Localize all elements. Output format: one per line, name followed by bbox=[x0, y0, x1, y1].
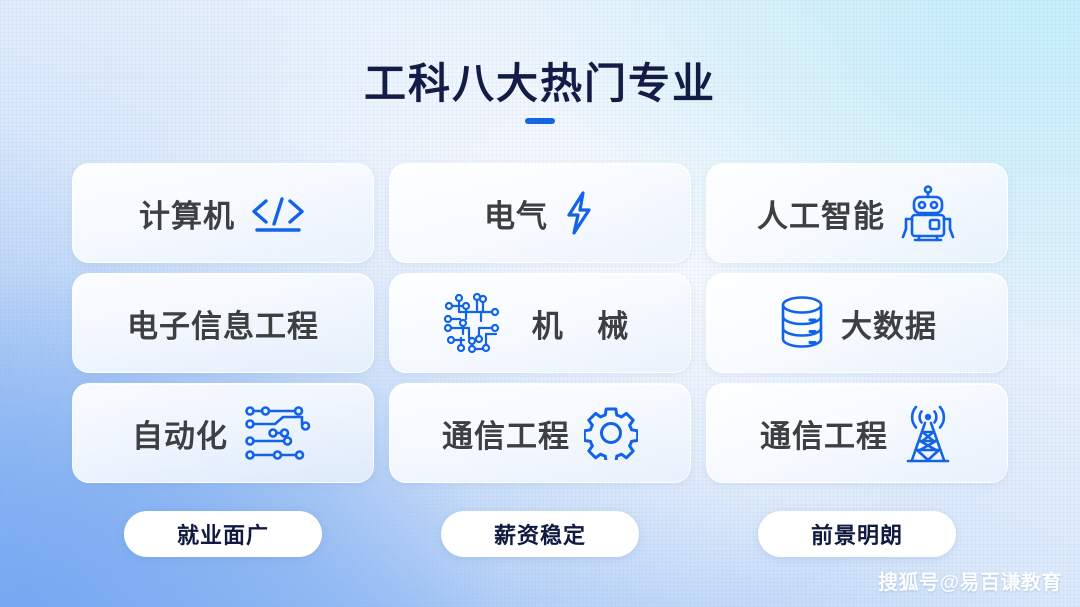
major-card-label: 通信工程 bbox=[760, 411, 888, 456]
major-card-label: 电子信息工程 bbox=[127, 301, 319, 346]
benefit-pill-slot: 就业面广 bbox=[72, 511, 374, 557]
major-card[interactable]: 机 械 bbox=[389, 273, 691, 373]
major-card-label: 通信工程 bbox=[442, 411, 570, 456]
major-card-label: 自动化 bbox=[132, 411, 228, 456]
major-card[interactable]: 自动化 bbox=[72, 383, 374, 483]
poster-canvas: 工科八大热门专业 计算机 电气 人工智能 电子 bbox=[0, 0, 1080, 607]
gear-icon bbox=[584, 406, 638, 460]
lightning-icon bbox=[562, 190, 596, 236]
page-title: 工科八大热门专业 bbox=[0, 62, 1080, 107]
major-card[interactable]: 计算机 bbox=[72, 163, 374, 263]
network-icon bbox=[242, 403, 314, 463]
major-card-label: 人工智能 bbox=[757, 191, 885, 236]
watermark: 搜狐号@易百谦教育 bbox=[878, 566, 1062, 595]
benefit-pill-slot: 薪资稳定 bbox=[389, 511, 691, 557]
major-card[interactable]: 通信工程 bbox=[389, 383, 691, 483]
code-icon bbox=[249, 192, 307, 234]
antenna-icon bbox=[902, 403, 954, 463]
major-card-label: 电气 bbox=[484, 191, 548, 236]
major-card-label: 机 械 bbox=[519, 301, 642, 346]
major-card-label: 计算机 bbox=[139, 191, 235, 236]
major-card-label: 大数据 bbox=[841, 301, 937, 346]
benefit-pill[interactable]: 就业面广 bbox=[124, 511, 322, 557]
benefit-pill[interactable]: 前景明朗 bbox=[758, 511, 956, 557]
benefit-pill[interactable]: 薪资稳定 bbox=[441, 511, 639, 557]
robot-icon bbox=[899, 184, 957, 242]
page-title-block: 工科八大热门专业 bbox=[0, 62, 1080, 124]
title-underline-accent bbox=[525, 118, 555, 124]
major-card[interactable]: 电气 bbox=[389, 163, 691, 263]
major-card[interactable]: 电子信息工程 bbox=[72, 273, 374, 373]
major-card[interactable]: 通信工程 bbox=[706, 383, 1008, 483]
circuit-icon bbox=[439, 290, 505, 356]
major-card[interactable]: 大数据 bbox=[706, 273, 1008, 373]
database-icon bbox=[777, 294, 827, 352]
major-card-grid: 计算机 电气 人工智能 电子信息工程 bbox=[72, 163, 1008, 483]
benefit-pill-slot: 前景明朗 bbox=[706, 511, 1008, 557]
benefit-pill-row: 就业面广薪资稳定前景明朗 bbox=[72, 511, 1008, 557]
major-card[interactable]: 人工智能 bbox=[706, 163, 1008, 263]
